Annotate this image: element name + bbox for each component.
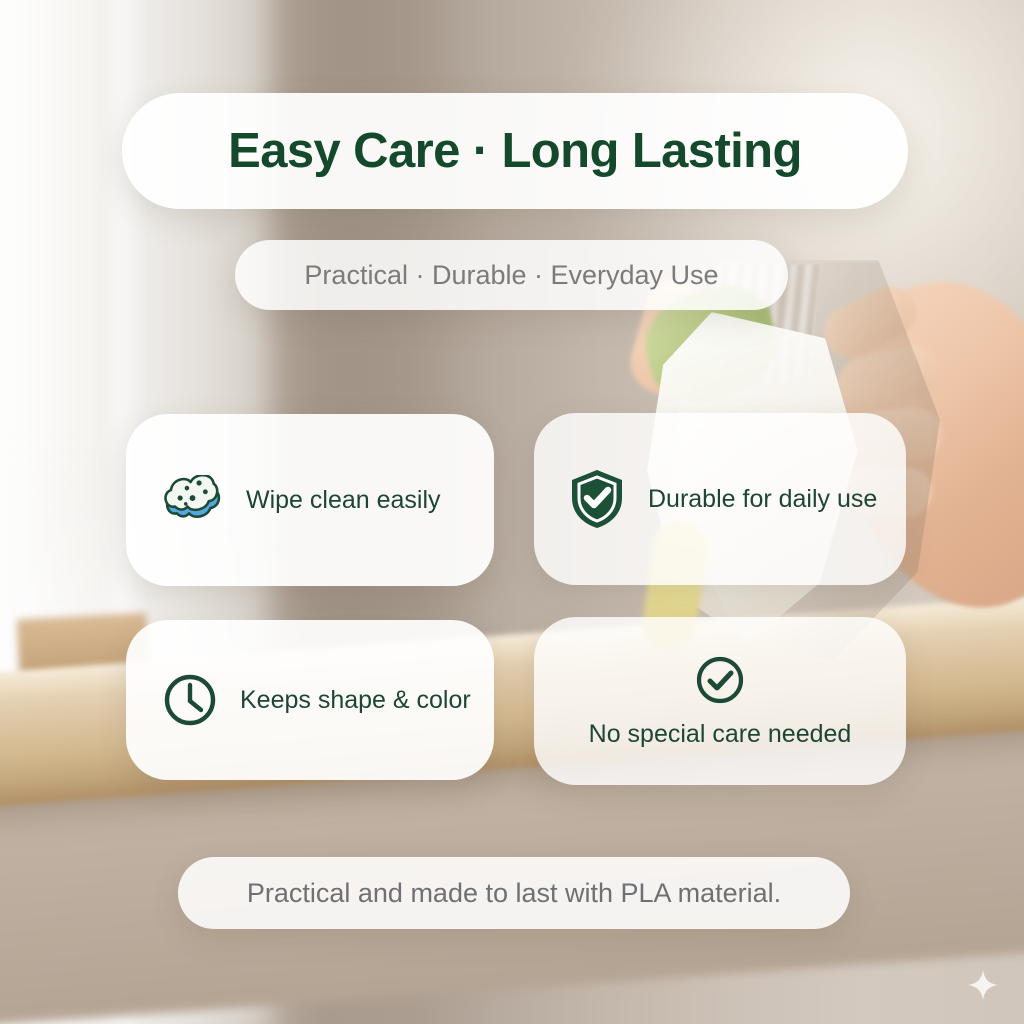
sponge-icon: [162, 475, 224, 525]
feature-card-durable[interactable]: Durable for daily use: [534, 413, 906, 585]
page-title: Easy Care · Long Lasting: [228, 123, 802, 179]
subtitle-card: Practical · Durable · Everyday Use: [235, 240, 788, 310]
feature-label: No special care needed: [589, 720, 852, 749]
page-subtitle: Practical · Durable · Everyday Use: [304, 260, 718, 291]
feature-card-keeps-shape[interactable]: Keeps shape & color: [126, 620, 494, 780]
shield-check-icon: [568, 468, 626, 530]
sparkle-icon: [966, 968, 1000, 1002]
feature-label: Durable for daily use: [648, 485, 877, 514]
title-card: Easy Care · Long Lasting: [122, 93, 908, 209]
feature-card-no-special-care[interactable]: No special care needed: [534, 617, 906, 785]
footer-text: Practical and made to last with PLA mate…: [247, 878, 781, 909]
feature-card-wipe-clean[interactable]: Wipe clean easily: [126, 414, 494, 586]
feature-label: Wipe clean easily: [246, 486, 441, 515]
promo-graphic: Easy Care · Long Lasting Practical · Dur…: [0, 0, 1024, 1024]
footer-card: Practical and made to last with PLA mate…: [178, 857, 850, 929]
check-circle-icon: [694, 654, 746, 706]
clock-icon: [162, 672, 218, 728]
feature-label: Keeps shape & color: [240, 686, 471, 715]
